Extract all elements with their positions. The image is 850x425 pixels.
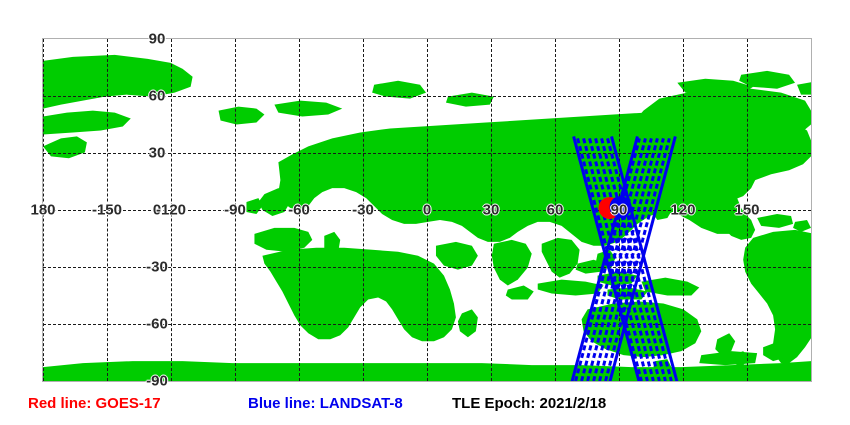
- legend-epoch-label: TLE Epoch:: [452, 395, 535, 412]
- legend-tle-epoch: TLE Epoch: 2021/2/18: [452, 396, 606, 411]
- map-plot-area: [43, 39, 811, 381]
- landsat8-marker: [610, 196, 632, 218]
- legend-footer: Red line: GOES-17 Blue line: LANDSAT-8 T…: [0, 392, 850, 422]
- landsat8-ground-tracks: [578, 138, 672, 381]
- legend-red-line: Red line: GOES-17: [28, 396, 161, 411]
- satellite-overlay-layer: [43, 39, 811, 381]
- legend-blue-line: Blue line: LANDSAT-8: [248, 396, 403, 411]
- legend-epoch-value: 2021/2/18: [540, 395, 607, 412]
- legend-red-value: GOES-17: [96, 395, 161, 412]
- legend-red-label: Red line:: [28, 395, 91, 412]
- satellite-tracking-map: 90 60 30 0 -30 -60 -90 -30 0 30 60 90 12…: [0, 0, 850, 425]
- legend-blue-label: Blue line:: [248, 395, 316, 412]
- legend-blue-value: LANDSAT-8: [320, 395, 403, 412]
- map-frame: 90 60 30 0 -30 -60 -90 -30 0 30 60 90 12…: [42, 38, 812, 382]
